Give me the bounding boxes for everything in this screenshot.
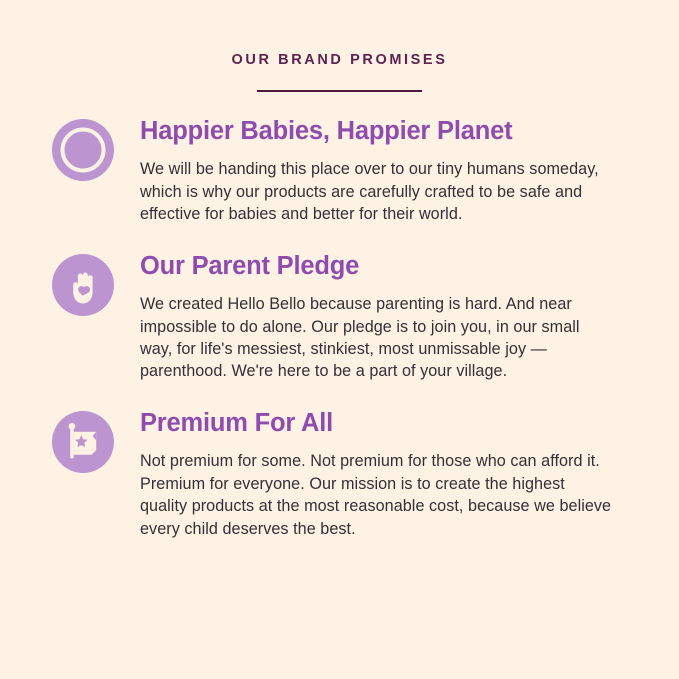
- promise-heading: Happier Babies, Happier Planet: [140, 117, 639, 146]
- list-item: Happier Babies, Happier Planet We will b…: [52, 116, 639, 226]
- promise-content: Our Parent Pledge We created Hello Bello…: [114, 251, 639, 383]
- promise-heading: Our Parent Pledge: [140, 252, 639, 281]
- brand-promises-page: OUR BRAND PROMISES: [0, 0, 679, 679]
- horizontal-rule: [257, 90, 422, 92]
- promise-heading: Premium For All: [140, 409, 639, 438]
- promise-list: Happier Babies, Happier Planet We will b…: [0, 116, 679, 540]
- list-item: Our Parent Pledge We created Hello Bello…: [52, 251, 639, 383]
- hand-heart-icon: [52, 254, 114, 316]
- promise-description: We created Hello Bello because parenting…: [140, 293, 612, 383]
- promise-content: Happier Babies, Happier Planet We will b…: [114, 116, 639, 226]
- page-title: OUR BRAND PROMISES: [0, 52, 679, 69]
- promise-content: Premium For All Not premium for some. No…: [114, 408, 639, 540]
- divider-container: [0, 90, 679, 92]
- flag-star-icon: [52, 411, 114, 473]
- promise-description: We will be handing this place over to ou…: [140, 158, 612, 225]
- page-header: OUR BRAND PROMISES: [0, 0, 679, 92]
- list-item: Premium For All Not premium for some. No…: [52, 408, 639, 540]
- globe-icon: [52, 119, 114, 181]
- promise-description: Not premium for some. Not premium for th…: [140, 450, 612, 540]
